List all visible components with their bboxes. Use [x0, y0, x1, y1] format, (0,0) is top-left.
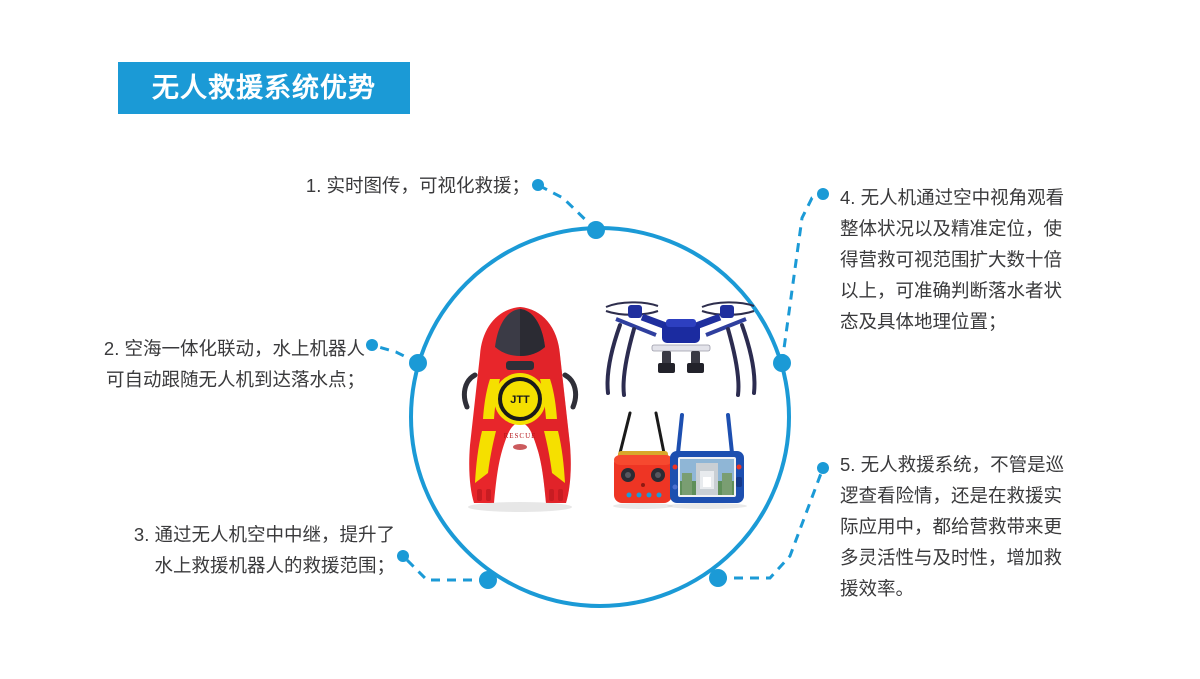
connector-4-end-dot	[817, 188, 829, 200]
page-title: 无人救援系统优势	[152, 75, 376, 102]
connector-3	[397, 550, 497, 589]
callout-text-4: 4. 无人机通过空中视角观看 整体状况以及精准定位，使 得营救可视范围扩大数十倍…	[840, 182, 1095, 337]
callout-text-1: 1. 实时图传，可视化救援；	[190, 170, 530, 201]
svg-text:RESCUE: RESCUE	[504, 432, 537, 440]
callout-text-2: 2. 空海一体化联动，水上机器人 可自动跟随无人机到达落水点；	[40, 333, 365, 395]
connector-5-anchor-dot	[709, 569, 727, 587]
connector-1-end-dot	[532, 179, 544, 191]
rescue-robot-image: JTT RESCUE	[464, 307, 575, 512]
connector-5-end-dot	[817, 462, 829, 474]
blue-monitor-controller-image	[667, 415, 747, 509]
drone-image	[606, 302, 755, 395]
svg-text:JTT: JTT	[510, 394, 530, 406]
callout-text-3: 3. 通过无人机空中中继，提升了 水上救援机器人的救援范围；	[60, 519, 395, 581]
callout-text-5: 5. 无人救援系统，不管是巡 逻查看险情，还是在救援实 际应用中，都给营救带来更…	[840, 449, 1090, 604]
connector-3-end-dot	[397, 550, 409, 562]
product-photo-cluster: JTT RESCUE	[420, 295, 790, 555]
connector-1	[532, 179, 605, 239]
connector-3-anchor-dot	[479, 571, 497, 589]
connector-2	[366, 339, 427, 372]
connector-1-anchor-dot	[587, 221, 605, 239]
page-title-banner: 无人救援系统优势	[118, 62, 410, 114]
connector-2-end-dot	[366, 339, 378, 351]
red-remote-controller-image	[613, 413, 673, 509]
diagram-canvas: 无人救援系统优势	[0, 0, 1200, 679]
